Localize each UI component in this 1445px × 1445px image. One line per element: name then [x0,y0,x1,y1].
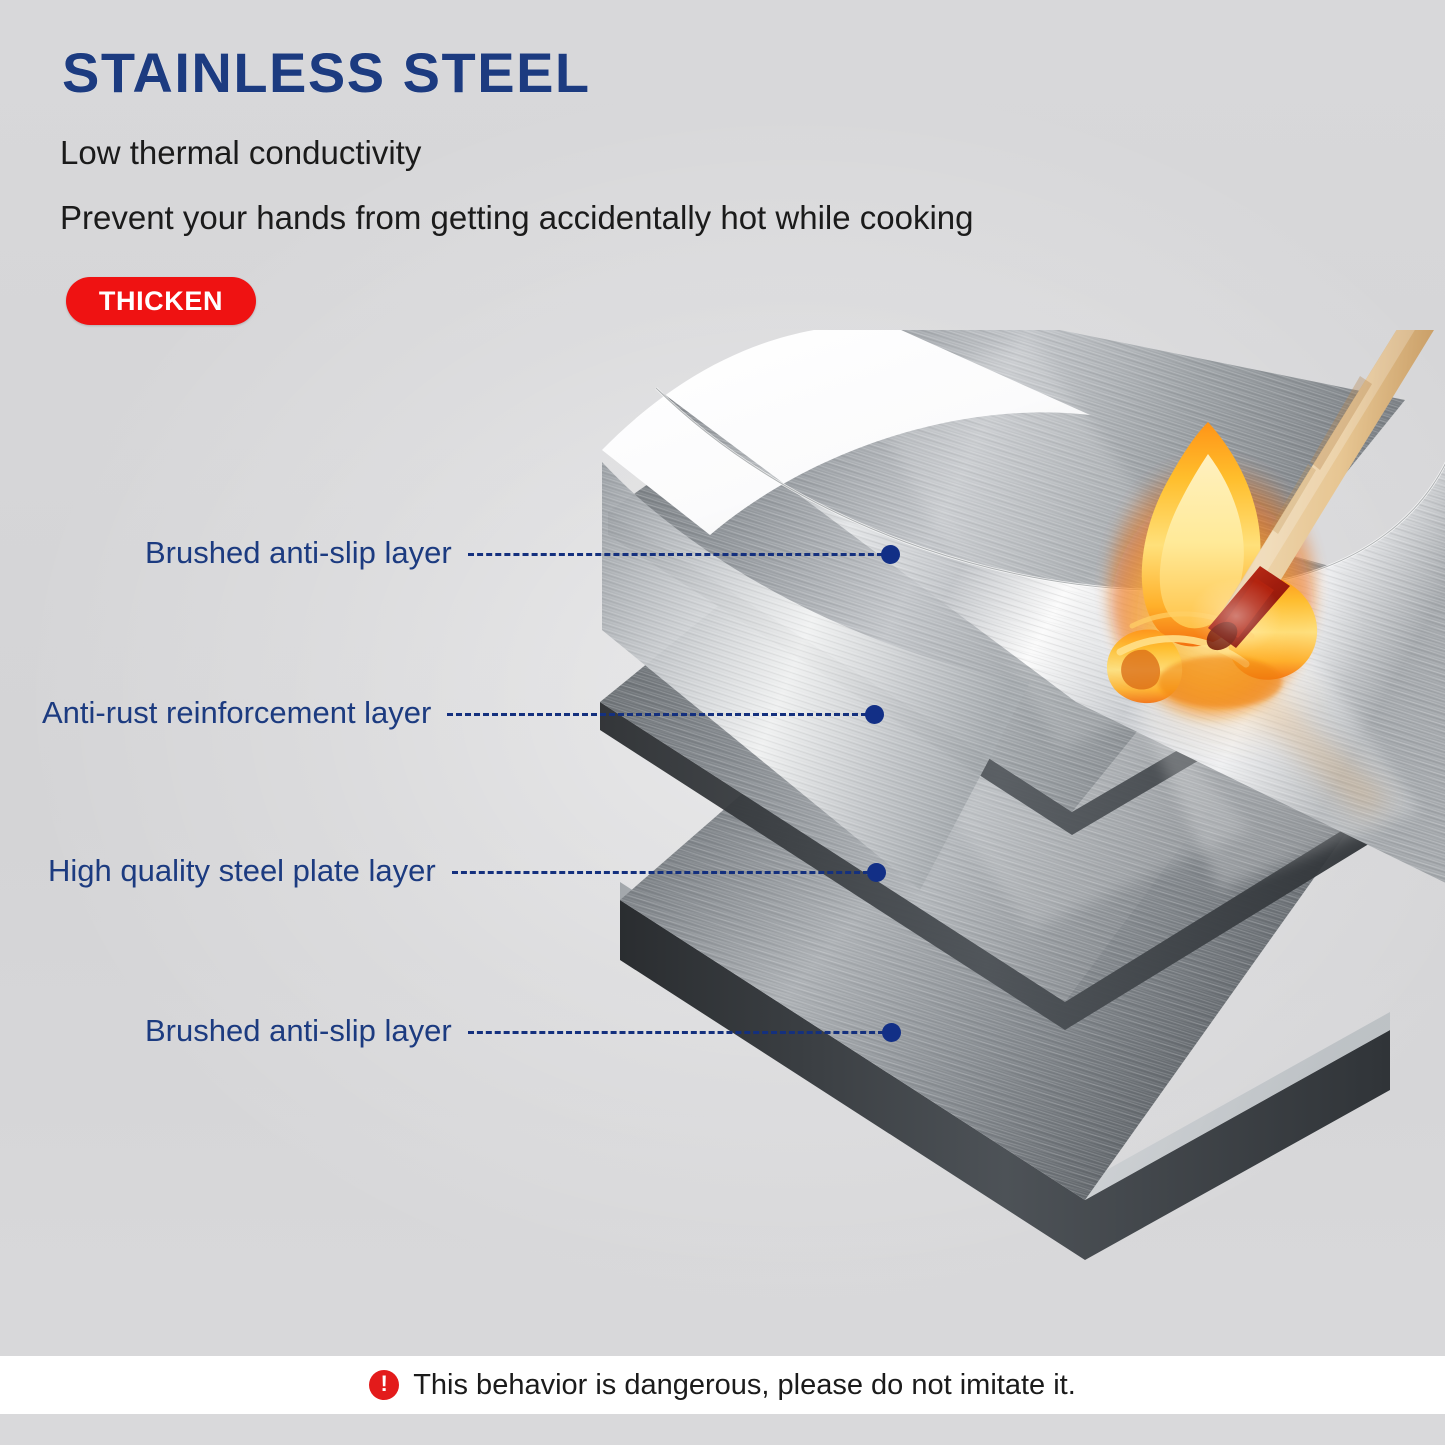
leader-line [468,553,883,556]
callout-label: Brushed anti-slip layer [145,1015,452,1049]
callout-brushed-anti-slip-bottom: Brushed anti-slip layer [145,1009,901,1055]
callout-label: Anti-rust reinforcement layer [42,697,431,731]
callout-label: Brushed anti-slip layer [145,537,452,571]
callout-label: High quality steel plate layer [48,855,436,889]
leader-line [452,871,869,874]
subtitle-line-1: Low thermal conductivity [60,133,1120,173]
exclamation-circle-icon: ! [369,1370,399,1400]
infographic-page: STAINLESS STEEL Low thermal conductivity… [0,0,1445,1445]
leader-dot [867,863,886,882]
exclamation-glyph: ! [381,1373,388,1395]
callout-brushed-anti-slip-top: Brushed anti-slip layer [145,531,900,577]
subtitle-line-2: Prevent your hands from getting accident… [60,198,1120,238]
thicken-badge-label: THICKEN [99,288,223,315]
callout-anti-rust-reinforcement: Anti-rust reinforcement layer [42,691,884,737]
thicken-badge: THICKEN [66,277,256,325]
leader-line [447,713,867,716]
leader-dot [865,705,884,724]
steel-layers-illustration [560,330,1445,1340]
callout-high-quality-steel-plate: High quality steel plate layer [48,849,886,895]
page-title: STAINLESS STEEL [62,44,1120,103]
header-block: STAINLESS STEEL Low thermal conductivity… [60,44,1120,238]
leader-dot [882,1023,901,1042]
leader-dot [881,545,900,564]
warning-text: This behavior is dangerous, please do no… [413,1371,1076,1400]
leader-line [468,1031,884,1034]
warning-bar: ! This behavior is dangerous, please do … [0,1356,1445,1414]
